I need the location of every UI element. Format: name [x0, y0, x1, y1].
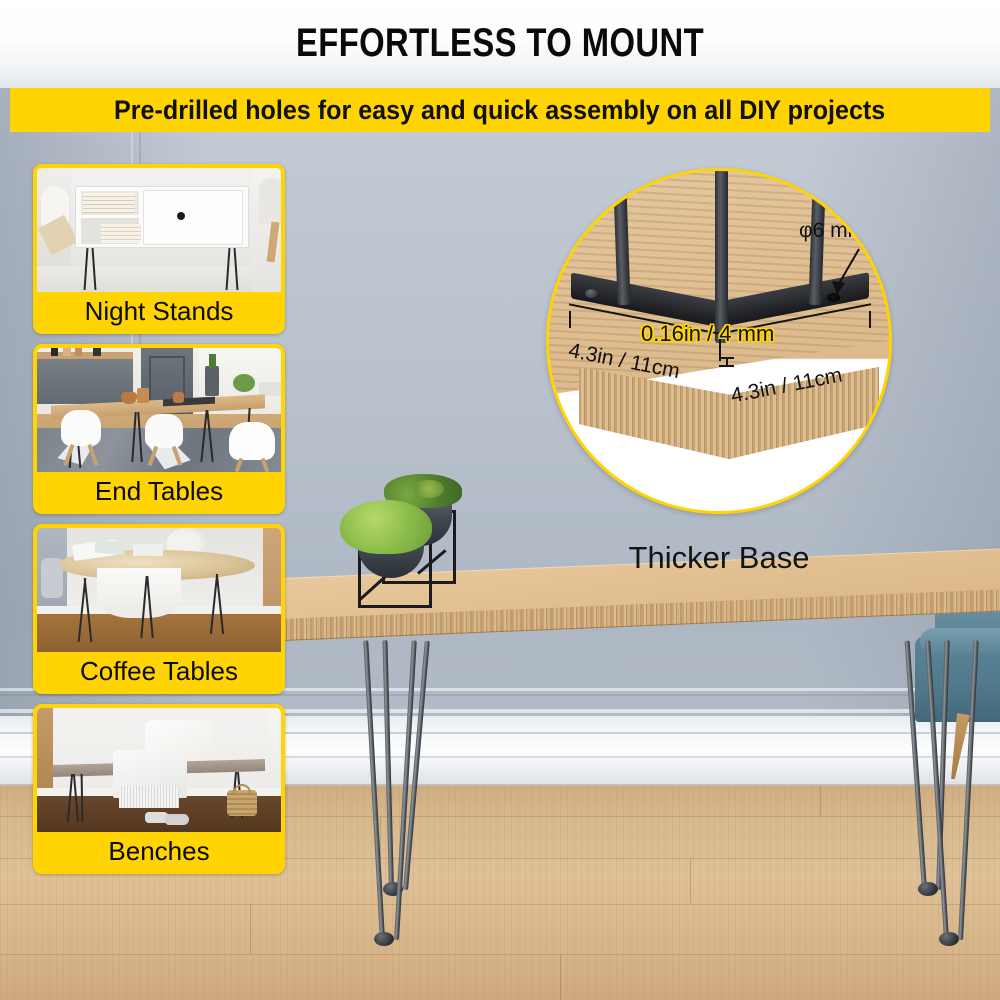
card-photo-coffee-tables [37, 528, 281, 652]
use-case-card-night-stands[interactable]: Night Stands [33, 164, 285, 334]
hairpin-leg-front-right [930, 640, 986, 940]
dimension-plate-thickness: 0.16in / 4 mm [641, 321, 774, 347]
card-label-benches: Benches [37, 832, 281, 870]
detail-callout-circle: φ6 mm 0.16in / 4 mm 4.3in / 11cm 4.3in /… [546, 168, 892, 514]
card-label-night-stands: Night Stands [37, 292, 281, 330]
use-case-card-benches[interactable]: Benches [33, 704, 285, 874]
card-photo-benches [37, 708, 281, 832]
card-label-end-tables: End Tables [37, 472, 281, 510]
thickness-marker-top [719, 357, 734, 359]
callout-caption: Thicker Base [546, 540, 892, 576]
use-case-card-end-tables[interactable]: End Tables [33, 344, 285, 514]
dimension-tick-right [869, 311, 871, 328]
hairpin-leg-front-left [352, 640, 408, 940]
page-title: EFFORTLESS TO MOUNT [90, 20, 910, 66]
dimension-tick-left [569, 311, 571, 328]
use-case-card-coffee-tables[interactable]: Coffee Tables [33, 524, 285, 694]
subtitle-text: Pre-drilled holes for easy and quick ass… [114, 95, 885, 126]
screw-hole-right [827, 293, 840, 302]
moss-ball-foliage [340, 500, 432, 554]
thickness-marker-bottom [719, 365, 734, 367]
hairpin-rod-center [715, 168, 728, 343]
card-photo-end-tables [37, 348, 281, 472]
use-case-card-list: Night Stands [33, 164, 285, 884]
subtitle-banner: Pre-drilled holes for easy and quick ass… [10, 88, 990, 132]
dimension-rod-diameter: φ6 mm [799, 219, 865, 243]
plant-stand [318, 462, 488, 622]
screw-hole-left [585, 289, 598, 298]
card-photo-night-stands [37, 168, 281, 292]
card-label-coffee-tables: Coffee Tables [37, 652, 281, 690]
